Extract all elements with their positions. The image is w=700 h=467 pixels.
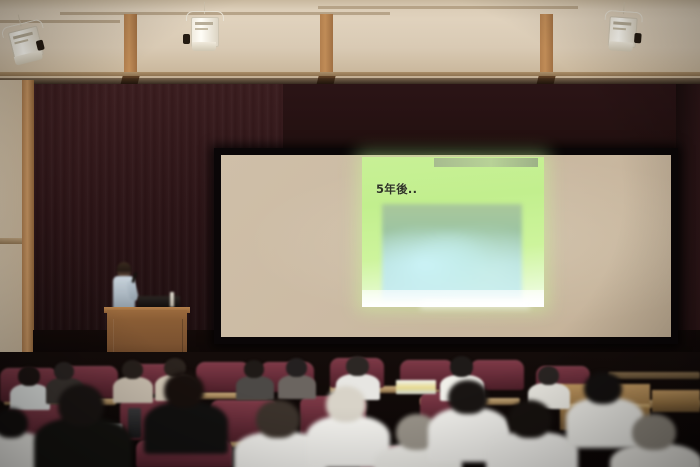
wooden-partition (652, 390, 700, 412)
ceiling-rail-1 (60, 12, 390, 15)
slide-bottom-flare (420, 300, 530, 312)
attendee-head (244, 360, 264, 378)
attendee-shoulders (113, 377, 153, 403)
water-bottle (170, 292, 174, 307)
attendee-head (346, 356, 369, 376)
projected-slide: 5年後.. (362, 157, 544, 307)
attendee-shoulders (566, 398, 644, 448)
lecture-hall-photo: 5年後.. (0, 0, 700, 467)
ceiling (0, 0, 700, 86)
attendee-head (54, 362, 74, 380)
attendee-head (450, 356, 473, 377)
spotlight-lens (192, 42, 216, 51)
spotlight-label (195, 28, 208, 30)
attendee-head (584, 372, 622, 404)
attendee-head (508, 400, 552, 438)
attendee-head (632, 414, 676, 450)
ceiling-rail-2 (318, 6, 578, 9)
attendee-head (18, 366, 40, 386)
attendee-head (58, 384, 104, 426)
attendee-head (0, 408, 28, 438)
attendee-head (256, 400, 300, 438)
spotlight-lens (608, 41, 633, 52)
papers-stack[interactable] (396, 380, 436, 394)
stage-spotlight-right (602, 1, 642, 55)
attendee-shoulders (236, 376, 274, 400)
slide-photo (382, 204, 522, 301)
spotlight-knob (634, 33, 642, 43)
presenter-head (117, 262, 131, 277)
ceiling-beam-strip-3 (540, 14, 553, 72)
ceiling-front-beam (0, 72, 700, 76)
attendee-shoulders (10, 384, 50, 410)
attendee-head (326, 386, 366, 422)
attendee-shoulders (278, 375, 316, 399)
side-wall-left (0, 80, 24, 380)
slide-top-band (434, 158, 538, 167)
ceiling-beam-strip-2 (320, 14, 333, 72)
spotlight-knob (36, 39, 45, 50)
slide-title-text: 5年後.. (376, 181, 417, 197)
ceiling-beam-strip-1 (124, 14, 137, 72)
attendee-shoulders (144, 402, 228, 454)
attendee-head (164, 372, 204, 408)
attendee-head (538, 366, 559, 385)
spotlight-vent (195, 22, 214, 25)
spotlight-knob (183, 34, 190, 44)
attendee-head (286, 358, 307, 377)
side-wall-trim (0, 238, 24, 244)
attendee-head (448, 380, 488, 414)
desk-surface (608, 372, 700, 379)
stage-spotlight-center (186, 2, 222, 54)
attendee-head (122, 360, 143, 379)
